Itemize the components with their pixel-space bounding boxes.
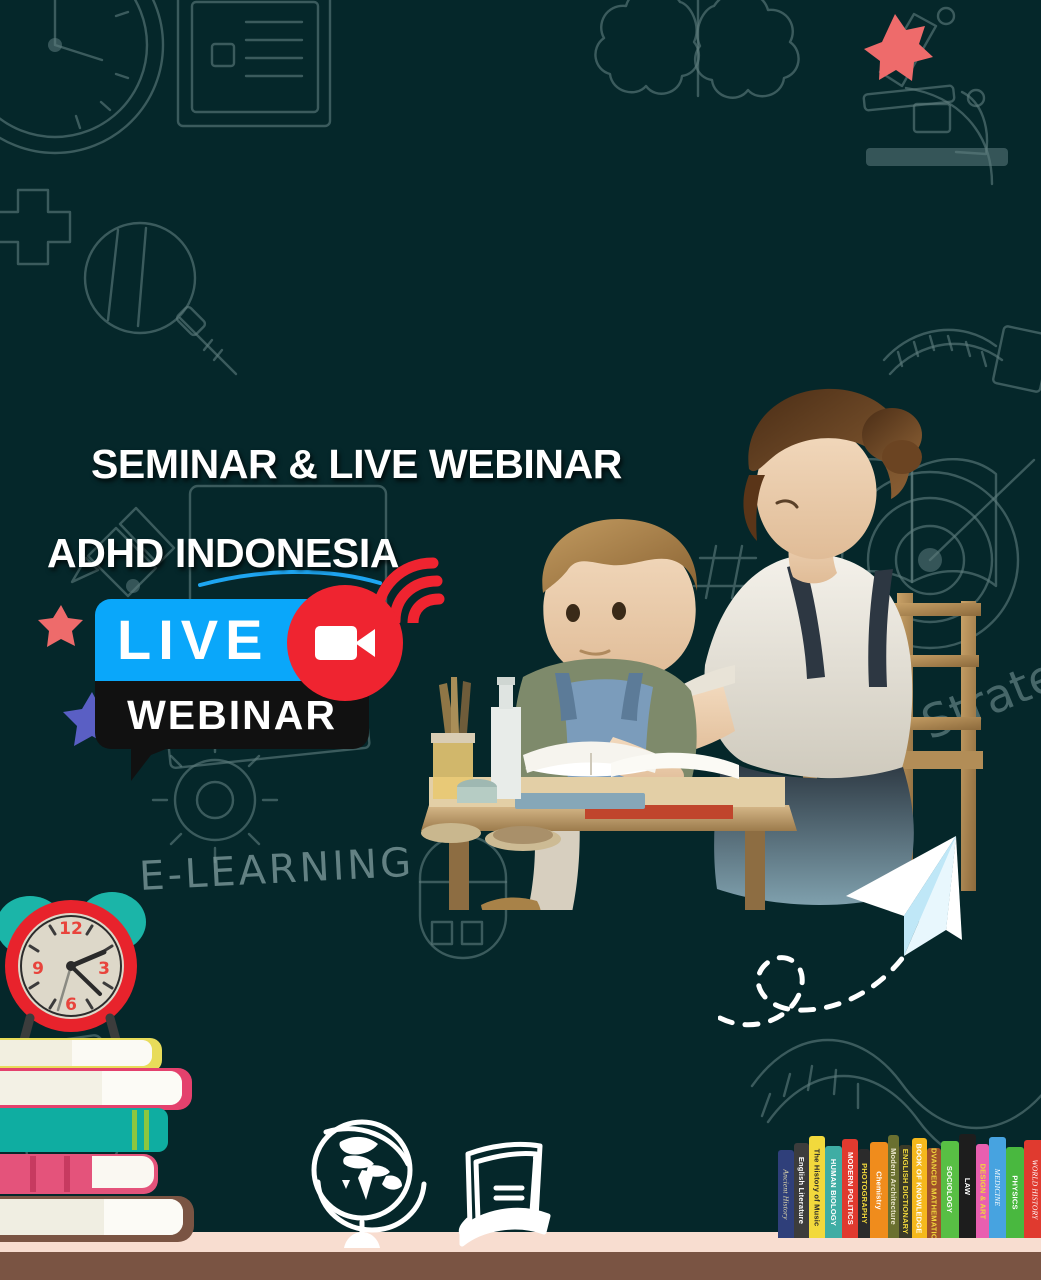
brain-doodle [595,0,798,98]
microscope-doodle [863,8,1008,184]
svg-text:12: 12 [59,919,83,939]
headline-line-2: ADHD INDONESIA [47,531,622,575]
paper-airplane-icon [718,830,1028,1045]
svg-text:6: 6 [65,995,77,1015]
book-stack [0,1038,194,1242]
magnifier-doodle [85,223,236,374]
plus-doodle [0,190,70,264]
chalk-globe-and-book [300,1110,562,1250]
book-spine: English Literature [794,1143,809,1238]
book-spine: Ancient History [778,1150,794,1238]
book-spine: DESIGN & ART [976,1144,989,1238]
alarm-clock: 12 3 6 9 [0,892,146,1040]
live-webinar-badge[interactable]: LIVE WEBINAR [95,585,425,770]
book-spine: LAW [959,1134,976,1238]
open-book-icon [461,1144,548,1244]
book-spine-title: DESIGN & ART [978,1163,987,1219]
book-spine-title: BOOK OF KNOWLEDGE [915,1143,924,1233]
live-label: LIVE [117,612,269,668]
svg-text:3: 3 [98,959,110,979]
record-button-circle[interactable] [287,585,403,701]
book-spine: Modern Architecture [888,1135,899,1238]
webinar-label: WEBINAR [127,695,337,736]
clock-doodle [0,0,163,153]
book-spine: The History of Music [809,1136,825,1238]
book-spine: WORLD HISTORY [1024,1140,1041,1238]
globe-icon [314,1122,424,1248]
poster-canvas: E-LEARNING Strategy [0,0,1041,1280]
book-spine-title: LAW [963,1177,972,1194]
book-spine-title: WORLD HISTORY [1031,1159,1040,1219]
book-spine: PHYSICS [1006,1147,1024,1238]
book-spine: Chemistry [870,1142,888,1238]
clipboard-doodle [178,0,330,126]
star-accent-doodle [864,14,933,81]
book-spine: HUMAN BIOLOGY [825,1146,842,1238]
book-spine-title: SOCIOLOGY [946,1166,955,1213]
book-spine-title: ADVANCED MATHEMATICS [930,1148,939,1238]
video-camera-icon [315,626,375,660]
bookshelf-row: Ancient HistoryEnglish LiteratureThe His… [778,1128,1041,1238]
book-spine-title: Modern Architecture [889,1148,898,1225]
book-spine: ENGLISH DICTIONARY [899,1145,912,1238]
book-spine-title: PHYSICS [1011,1175,1020,1209]
book-spine: MEDICINE [989,1137,1006,1238]
book-spine-title: Chemistry [875,1171,884,1209]
book-spine-title: MODERN POLITICS [846,1152,855,1225]
alarm-clock-and-books: 12 3 6 9 [0,878,260,1248]
svg-text:9: 9 [32,959,44,979]
book-spine: SOCIOLOGY [941,1141,959,1238]
book-spine-title: ENGLISH DICTIONARY [901,1149,910,1234]
dashed-flight-path [720,956,904,1025]
book-spine-title: The History of Music [813,1148,822,1226]
speech-bubble-tail [131,747,171,781]
book-spine: BOOK OF KNOWLEDGE [912,1138,927,1238]
book-spine: ADVANCED MATHEMATICS [927,1148,941,1238]
book-spine-title: MEDICINE [993,1169,1002,1206]
book-spine-title: English Literature [797,1157,806,1224]
book-spine-title: PHOTOGRAPHY [860,1163,869,1224]
book-spine-title: Ancient History [782,1169,791,1219]
star-red-accent [38,603,84,649]
book-spine: MODERN POLITICS [842,1139,858,1238]
book-spine: PHOTOGRAPHY [858,1149,870,1238]
shelf-body [0,1252,1041,1280]
book-spine-title: HUMAN BIOLOGY [829,1158,838,1225]
headline-line-1: SEMINAR & LIVE WEBINAR [91,441,622,487]
